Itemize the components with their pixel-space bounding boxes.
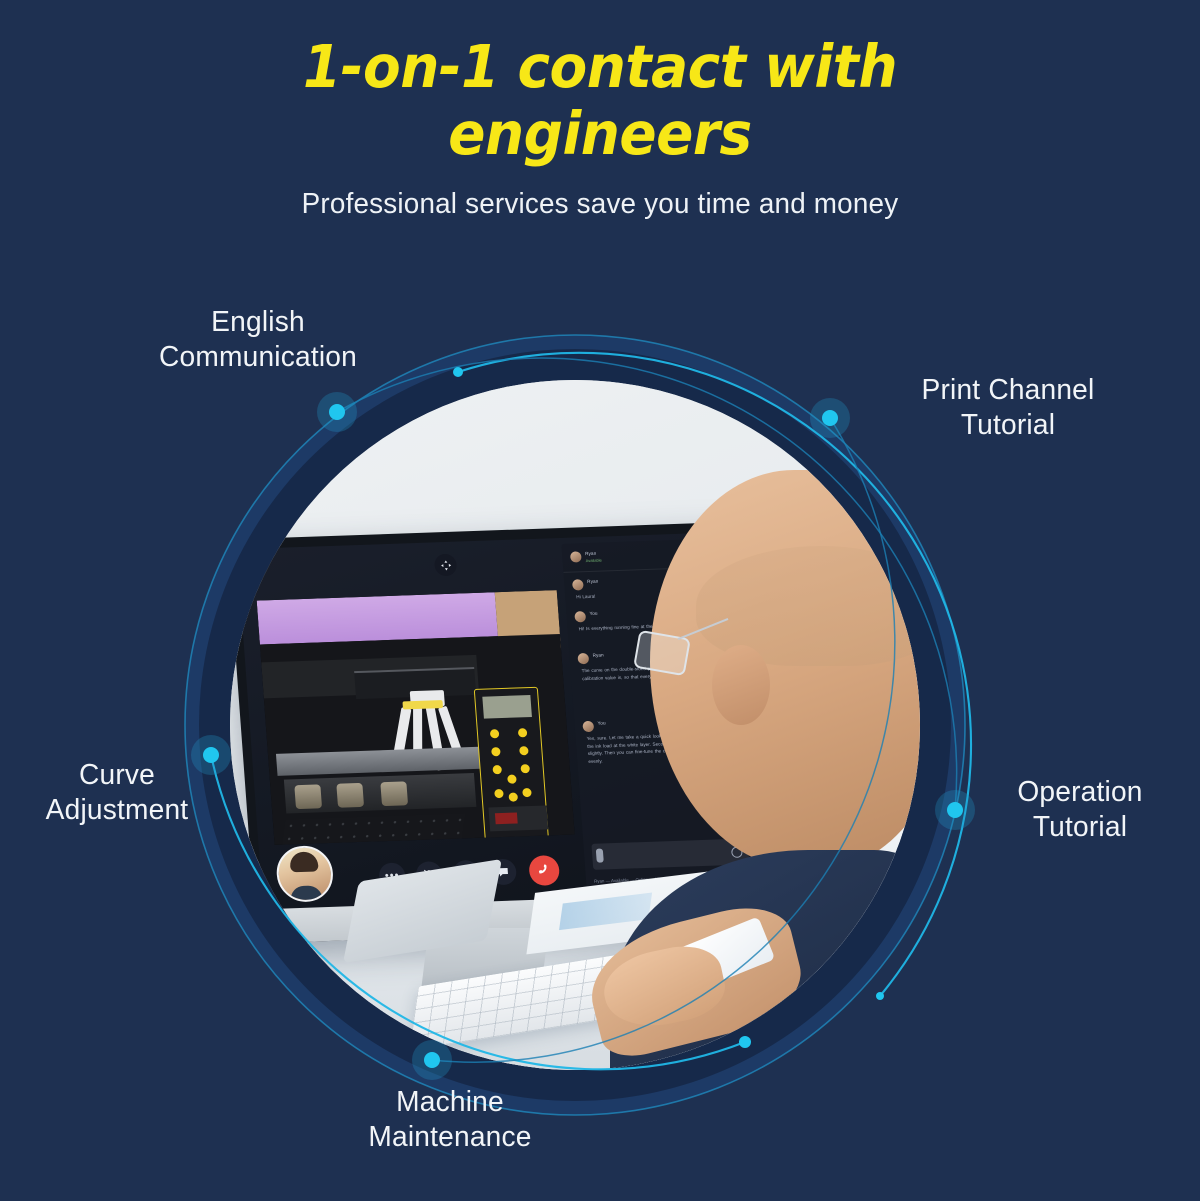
feature-label-english-communication: English Communication [83, 305, 432, 375]
printer-printhead [384, 689, 481, 787]
feature-label-machine-maintenance: Machine Maintenance [305, 1085, 596, 1155]
node-dot-machine-maintenance[interactable] [424, 1052, 440, 1068]
avatar [574, 611, 586, 622]
printer-status-display [488, 805, 548, 831]
circular-photo-composition: Ryan Available Ryan Hi Laura! You [185, 335, 965, 1115]
avatar [582, 721, 594, 732]
arc-end-bottom-far-dot [876, 992, 884, 1000]
message-sender: Ryan [587, 579, 598, 584]
headline-line-1: 1-on-1 contact with [42, 34, 1158, 101]
node-dot-print-channel-tutorial[interactable] [822, 410, 838, 426]
feature-label-operation-tutorial: Operation Tutorial [968, 775, 1191, 845]
printer-rollers [284, 773, 477, 814]
poster-canvas: 1-on-1 contact with engineers Profession… [0, 0, 1200, 1201]
video-feed-printer [257, 590, 575, 845]
page-subtitle: Professional services save you time and … [24, 188, 1176, 221]
hangup-icon[interactable] [528, 855, 560, 886]
arc-end-bottom-right-dot [739, 1036, 751, 1048]
photo-scene: Ryan Available Ryan Hi Laura! You [230, 380, 920, 1070]
mic-icon[interactable] [596, 848, 604, 862]
node-dot-english-communication[interactable] [329, 404, 345, 420]
avatar [572, 579, 584, 590]
self-view-avatar[interactable] [275, 845, 335, 903]
chat-header-user: Ryan [585, 551, 596, 556]
feature-label-print-channel-tutorial: Print Channel Tutorial [863, 373, 1154, 443]
expand-icon[interactable] [434, 554, 458, 577]
headline-line-2: engineers [42, 101, 1158, 168]
chat-header-status: Available [585, 558, 602, 564]
message-sender: Ryan [592, 652, 603, 657]
arc-end-top-left-dot [453, 367, 463, 377]
message-sender: You [589, 611, 597, 616]
node-dot-operation-tutorial[interactable] [947, 802, 963, 818]
feature-label-curve-adjustment: Curve Adjustment [5, 758, 228, 828]
message-sender: You [597, 720, 605, 725]
avatar [577, 653, 589, 664]
printer-lcd [482, 695, 532, 719]
avatar [570, 551, 582, 562]
glasses-icon [636, 626, 724, 668]
page-title: 1-on-1 contact with engineers [42, 34, 1158, 167]
printer-body [260, 634, 575, 845]
